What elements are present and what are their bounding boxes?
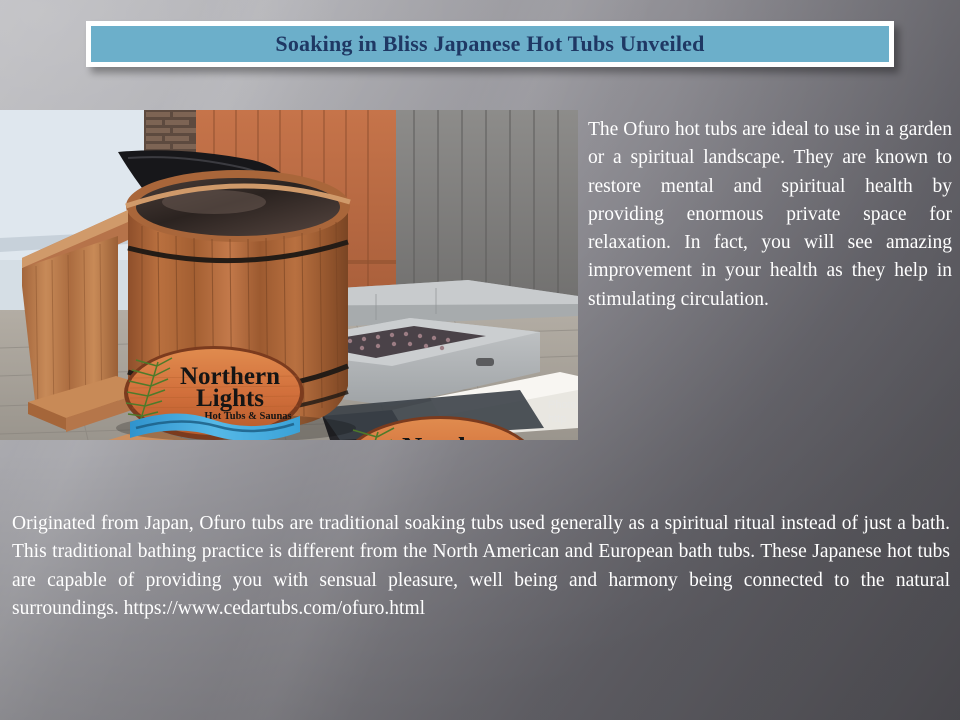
photo-watermark-line2: http — [548, 413, 566, 425]
bottom-paragraph: Originated from Japan, Ofuro tubs are tr… — [12, 510, 950, 623]
slide-title-banner: Soaking in Bliss Japanese Hot Tubs Unvei… — [86, 21, 894, 67]
hot-tub-photo-graphic: Northern Lights Hot Tubs & Saunas — [0, 110, 578, 440]
northern-lights-logo-primary: Northern Lights Hot Tubs & Saunas — [124, 346, 304, 440]
logo-primary-line2: Lights — [196, 385, 264, 412]
hot-tub-photo: Northern Lights Hot Tubs & Saunas — [0, 110, 578, 440]
page-title: Soaking in Bliss Japanese Hot Tubs Unvei… — [275, 33, 704, 55]
logo-secondary-line1: Northern — [402, 433, 514, 440]
right-column-paragraph: The Ofuro hot tubs are ideal to use in a… — [588, 116, 952, 314]
slide-canvas: Soaking in Bliss Japanese Hot Tubs Unvei… — [0, 0, 960, 720]
photo-watermark-line1: Photo — [548, 399, 577, 411]
logo-primary-tagline: Hot Tubs & Saunas — [204, 411, 291, 422]
slide-title-fill: Soaking in Bliss Japanese Hot Tubs Unvei… — [91, 26, 889, 62]
